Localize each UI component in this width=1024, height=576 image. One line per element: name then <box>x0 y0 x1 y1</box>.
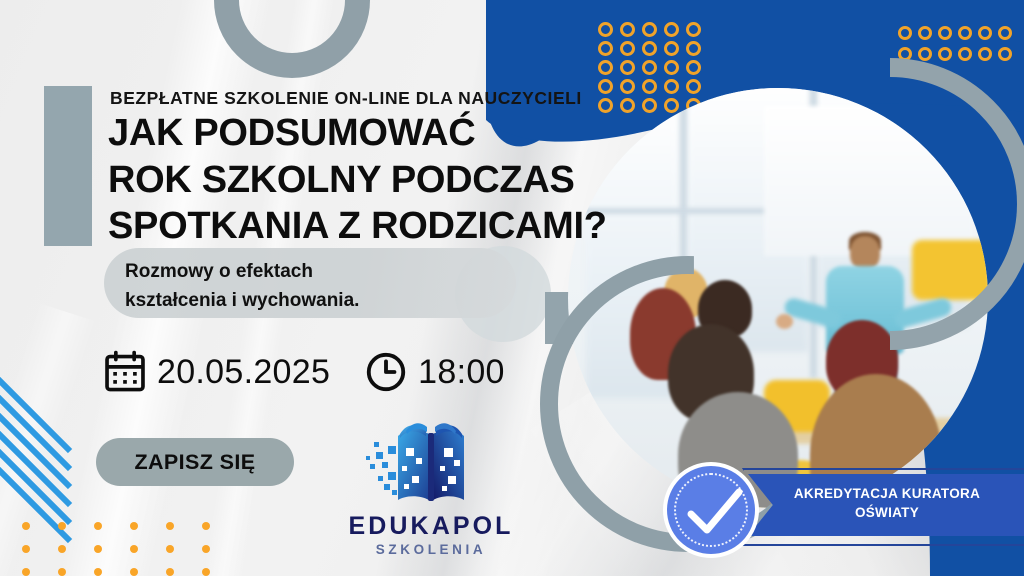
subtitle-text: Rozmowy o efektach kształcenia i wychowa… <box>125 258 359 315</box>
headline-line-2: ROK SZKOLNY PODCZAS <box>108 157 607 204</box>
accreditation-line-2: OŚWIATY <box>771 503 1003 522</box>
accreditation-text: AKREDYTACJA KURATORA OŚWIATY <box>771 484 1003 522</box>
accreditation-badge: AKREDYTACJA KURATORA OŚWIATY <box>663 462 1024 558</box>
event-time: 18:00 <box>418 353 505 392</box>
checkmark-badge <box>663 462 759 558</box>
subtitle-line-1: Rozmowy o efektach <box>125 258 359 287</box>
headline-line-3: SPOTKANIA Z RODZICAMI? <box>108 203 607 250</box>
orange-dot-grid <box>22 522 238 576</box>
edukapol-logo: EDUKAPOL SZKOLENIA <box>336 418 526 564</box>
calendar-icon <box>103 350 147 394</box>
event-datetime: 20.05.2025 18:00 <box>103 350 505 394</box>
accreditation-line-1: AKREDYTACJA KURATORA <box>771 484 1003 503</box>
check-icon <box>685 486 745 542</box>
headline-line-1: JAK PODSUMOWAĆ <box>108 110 607 157</box>
signup-button[interactable]: ZAPISZ SIĘ <box>96 438 294 486</box>
logo-name: EDUKAPOL <box>336 512 526 541</box>
book-logo-icon <box>336 418 526 510</box>
logo-tagline: SZKOLENIA <box>336 542 526 557</box>
promotional-banner: BEZPŁATNE SZKOLENIE ON-LINE DLA NAUCZYCI… <box>0 0 1024 576</box>
event-date: 20.05.2025 <box>157 353 330 392</box>
eyebrow-text: BEZPŁATNE SZKOLENIE ON-LINE DLA NAUCZYCI… <box>110 88 582 109</box>
gray-rectangle-decoration <box>44 86 92 246</box>
page-title: JAK PODSUMOWAĆ ROK SZKOLNY PODCZAS SPOTK… <box>108 110 607 250</box>
subtitle-line-2: kształcenia i wychowania. <box>125 287 359 316</box>
clock-icon <box>364 350 408 394</box>
